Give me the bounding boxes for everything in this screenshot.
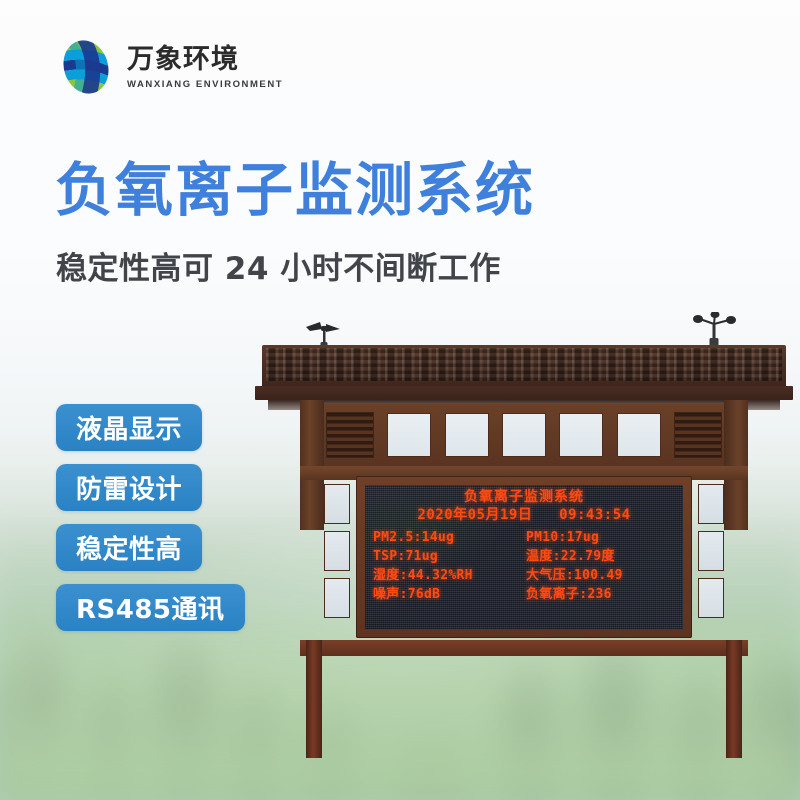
reading-humidity: 湿度:44.32%RH bbox=[373, 567, 522, 584]
reading-tsp: TSP:71ug bbox=[373, 548, 522, 565]
sky-opening bbox=[502, 413, 546, 457]
product-poster: 万象环境 WANXIANG ENVIRONMENT 负氧离子监测系统 稳定性高可… bbox=[0, 0, 800, 800]
monitoring-station: 负氧离子监测系统 2020年05月19日 09:43:54 PM2.5:14ug… bbox=[0, 300, 800, 770]
sky-opening bbox=[559, 413, 603, 457]
brand-logo: 万象环境 WANXIANG ENVIRONMENT bbox=[55, 36, 283, 98]
led-readings-grid: PM2.5:14ug PM10:17ug TSP:71ug 温度:22.79度 … bbox=[373, 529, 675, 604]
sky-opening bbox=[617, 413, 661, 457]
brand-name-en: WANXIANG ENVIRONMENT bbox=[127, 79, 283, 90]
globe-swoosh-logo-icon bbox=[55, 36, 117, 98]
louver-vent-left bbox=[326, 412, 374, 458]
side-slot bbox=[698, 484, 724, 524]
roof-eave bbox=[255, 386, 793, 400]
page-title: 负氧离子监测系统 bbox=[55, 160, 675, 221]
louver-vent-right bbox=[674, 412, 722, 458]
page-subtitle: 稳定性高可 24 小时不间断工作 bbox=[56, 243, 696, 288]
led-date: 2020年05月19日 bbox=[417, 507, 532, 523]
side-slot bbox=[698, 578, 724, 618]
sky-opening bbox=[387, 413, 431, 457]
led-display-screen[interactable]: 负氧离子监测系统 2020年05月19日 09:43:54 PM2.5:14ug… bbox=[365, 485, 683, 629]
side-panel-left bbox=[324, 484, 350, 625]
upper-vent-band bbox=[324, 404, 724, 466]
side-slot bbox=[698, 531, 724, 571]
led-time: 09:43:54 bbox=[559, 507, 630, 523]
sky-opening bbox=[445, 413, 489, 457]
reading-noise: 噪声:76dB bbox=[373, 586, 522, 603]
roof-tiles bbox=[266, 348, 782, 381]
side-slot bbox=[324, 531, 350, 571]
station-roof bbox=[262, 345, 786, 389]
side-panel-right bbox=[698, 484, 724, 625]
brand-name-cn: 万象环境 bbox=[127, 46, 283, 74]
reading-temperature: 温度:22.79度 bbox=[526, 548, 675, 565]
display-board-area: 负氧离子监测系统 2020年05月19日 09:43:54 PM2.5:14ug… bbox=[300, 480, 748, 640]
led-title: 负氧离子监测系统 bbox=[373, 490, 675, 505]
reading-pm25: PM2.5:14ug bbox=[373, 529, 522, 546]
led-datetime: 2020年05月19日 09:43:54 bbox=[373, 508, 675, 523]
side-slot bbox=[324, 484, 350, 524]
reading-pm10: PM10:17ug bbox=[526, 529, 675, 546]
support-post-right bbox=[726, 640, 742, 758]
support-post-left bbox=[306, 640, 322, 758]
frame-rail-lower bbox=[300, 640, 748, 656]
side-slot bbox=[324, 578, 350, 618]
reading-pressure: 大气压:100.49 bbox=[526, 567, 675, 584]
led-board-bezel: 负氧离子监测系统 2020年05月19日 09:43:54 PM2.5:14ug… bbox=[356, 476, 692, 638]
reading-negative-ion: 负氧离子:236 bbox=[526, 586, 675, 603]
